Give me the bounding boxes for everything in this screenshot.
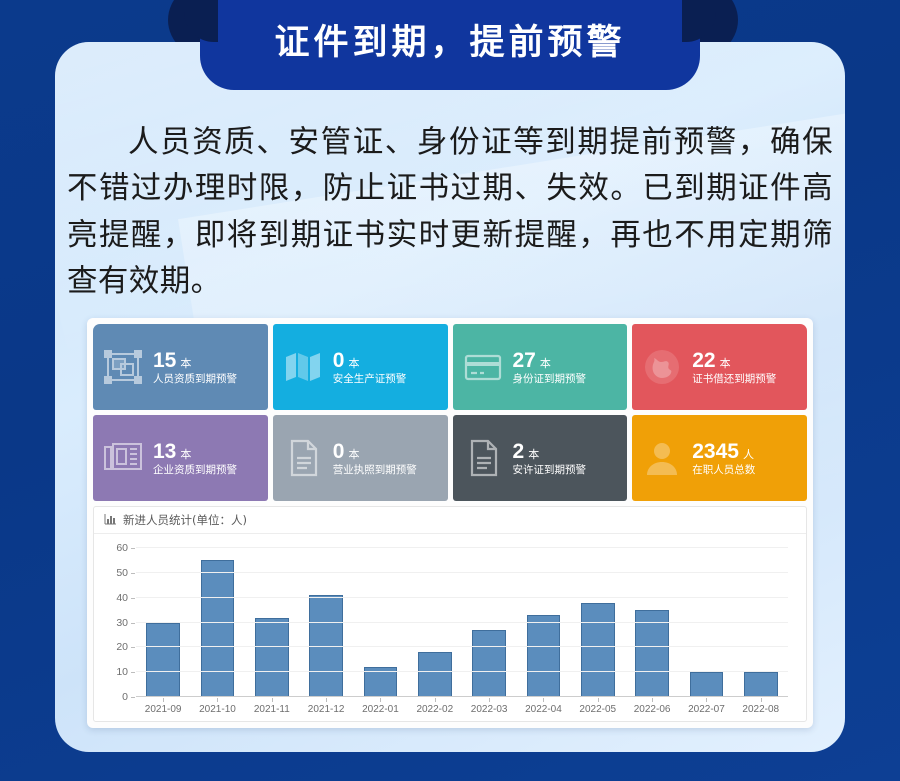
chart-gridline: 30 — [136, 622, 788, 623]
dashboard-screenshot: 15本人员资质到期预警0本安全生产证预警27本身份证到期预警22本证书借还到期预… — [87, 318, 813, 728]
chart-gridline: 10 — [136, 671, 788, 672]
chart-x-tick-label: 2022-02 — [416, 704, 453, 715]
stat-card-unit: 本 — [180, 358, 191, 370]
globe-icon — [642, 347, 682, 387]
intro-paragraph: 人员资质、安管证、身份证等到期提前预警，确保不错过办理时限，防止证书过期、失效。… — [67, 120, 833, 305]
chart-x-tick-label: 2022-08 — [742, 704, 779, 715]
chart-bar-cell[interactable]: 2022-03 — [462, 548, 516, 697]
id-card-icon — [463, 347, 503, 387]
chart-bar-cell[interactable]: 2021-11 — [245, 548, 299, 697]
chart-title: 新进人员统计(单位：人) — [123, 512, 247, 528]
stat-card-label: 人员资质到期预警 — [153, 374, 237, 385]
chart-x-tick-label: 2022-05 — [579, 704, 616, 715]
document-icon — [283, 438, 323, 478]
stat-card-label: 企业资质到期预警 — [153, 465, 237, 476]
stat-card-unit: 本 — [348, 449, 359, 461]
chart-x-tick-label: 2021-10 — [199, 704, 236, 715]
user-icon — [642, 438, 682, 478]
banner-notch-left — [184, 0, 218, 42]
chart-bar-cell[interactable]: 2022-04 — [516, 548, 570, 697]
chart-bar[interactable] — [527, 615, 561, 697]
chart-y-tick-label: 20 — [116, 641, 128, 653]
stat-card[interactable]: 0本营业执照到期预警 — [273, 415, 448, 501]
stat-card-label: 身份证到期预警 — [513, 374, 587, 385]
stat-card-value: 15本 — [153, 350, 237, 371]
chart-bar[interactable] — [472, 630, 506, 697]
chart-gridline: 60 — [136, 547, 788, 548]
chart-y-tick-label: 30 — [116, 617, 128, 629]
stat-card[interactable]: 2345人在职人员总数 — [632, 415, 807, 501]
chart-x-tick-label: 2021-11 — [254, 704, 290, 715]
stat-card-label: 证书借还到期预警 — [692, 374, 776, 385]
chart-bar[interactable] — [744, 672, 778, 697]
chart-x-tick-label: 2022-03 — [471, 704, 508, 715]
chart-y-tick-label: 60 — [116, 542, 128, 554]
frame-select-icon — [103, 347, 143, 387]
banner-notch-right — [682, 0, 716, 42]
chart-panel: 新进人员统计(单位：人) 2021-092021-102021-112021-1… — [93, 506, 807, 722]
chart-body: 2021-092021-102021-112021-122022-012022-… — [94, 534, 806, 721]
stat-card-unit: 人 — [743, 449, 754, 461]
stat-card[interactable]: 27本身份证到期预警 — [453, 324, 628, 410]
chart-bar-cell[interactable]: 2022-01 — [353, 548, 407, 697]
document-icon — [463, 438, 503, 478]
stat-card-value: 22本 — [692, 350, 776, 371]
chart-gridline: 50 — [136, 572, 788, 573]
chart-plot-area: 2021-092021-102021-112021-122022-012022-… — [136, 548, 788, 697]
stat-card-unit: 本 — [720, 358, 731, 370]
newspaper-icon — [103, 438, 143, 478]
stat-card-unit: 本 — [528, 449, 539, 461]
stat-card-value: 0本 — [333, 350, 407, 371]
chart-header: 新进人员统计(单位：人) — [94, 507, 806, 534]
chart-y-tick-label: 50 — [116, 567, 128, 579]
stat-card-label: 安全生产证预警 — [333, 374, 407, 385]
chart-bar[interactable] — [635, 610, 669, 697]
chart-y-tick-label: 10 — [116, 666, 128, 678]
chart-bar[interactable] — [418, 652, 452, 697]
chart-x-tick-label: 2022-04 — [525, 704, 562, 715]
map-icon — [283, 347, 323, 387]
stat-card-grid: 15本人员资质到期预警0本安全生产证预警27本身份证到期预警22本证书借还到期预… — [93, 324, 807, 501]
chart-gridline: 20 — [136, 646, 788, 647]
stat-card-value: 2345人 — [692, 441, 755, 462]
bar-chart-icon — [104, 513, 117, 528]
stat-card[interactable]: 13本企业资质到期预警 — [93, 415, 268, 501]
chart-gridline: 0 — [136, 696, 788, 697]
chart-bar-cell[interactable]: 2021-12 — [299, 548, 353, 697]
chart-bar-cell[interactable]: 2022-07 — [679, 548, 733, 697]
chart-x-tick-label: 2022-01 — [362, 704, 399, 715]
title-banner: 证件到期，提前预警 — [200, 0, 700, 90]
chart-bar[interactable] — [201, 560, 235, 697]
stat-card-label: 在职人员总数 — [692, 465, 755, 476]
chart-y-tick-label: 40 — [116, 592, 128, 604]
stat-card[interactable]: 2本安许证到期预警 — [453, 415, 628, 501]
chart-bar[interactable] — [255, 618, 289, 697]
stat-card[interactable]: 0本安全生产证预警 — [273, 324, 448, 410]
stat-card-unit: 本 — [180, 449, 191, 461]
chart-x-tick-label: 2021-09 — [145, 704, 182, 715]
chart-bar[interactable] — [690, 672, 724, 697]
stat-card-label: 安许证到期预警 — [513, 465, 587, 476]
title-banner-wrap: 证件到期，提前预警 — [0, 0, 900, 100]
chart-bar-cell[interactable]: 2022-06 — [625, 548, 679, 697]
chart-bar-cell[interactable]: 2021-10 — [190, 548, 244, 697]
stat-card-value: 27本 — [513, 350, 587, 371]
chart-x-tick-label: 2022-07 — [688, 704, 725, 715]
chart-bar-cell[interactable]: 2022-02 — [408, 548, 462, 697]
chart-x-tick-label: 2022-06 — [634, 704, 671, 715]
stat-card-value: 13本 — [153, 441, 237, 462]
chart-bar[interactable] — [581, 603, 615, 697]
chart-bar-cell[interactable]: 2022-05 — [571, 548, 625, 697]
chart-bar-cell[interactable]: 2022-08 — [734, 548, 788, 697]
chart-bars: 2021-092021-102021-112021-122022-012022-… — [136, 548, 788, 697]
stat-card-unit: 本 — [348, 358, 359, 370]
stat-card-label: 营业执照到期预警 — [333, 465, 417, 476]
chart-bar[interactable] — [146, 623, 180, 698]
chart-x-tick-label: 2021-12 — [308, 704, 345, 715]
chart-gridline: 40 — [136, 597, 788, 598]
stat-card-value: 2本 — [513, 441, 587, 462]
chart-bar-cell[interactable]: 2021-09 — [136, 548, 190, 697]
stat-card-value: 0本 — [333, 441, 417, 462]
stat-card[interactable]: 22本证书借还到期预警 — [632, 324, 807, 410]
stat-card-unit: 本 — [540, 358, 551, 370]
chart-y-tick-label: 0 — [122, 691, 128, 703]
content-panel: 人员资质、安管证、身份证等到期提前预警，确保不错过办理时限，防止证书过期、失效。… — [55, 42, 845, 752]
page-title: 证件到期，提前预警 — [274, 25, 625, 66]
stat-card[interactable]: 15本人员资质到期预警 — [93, 324, 268, 410]
